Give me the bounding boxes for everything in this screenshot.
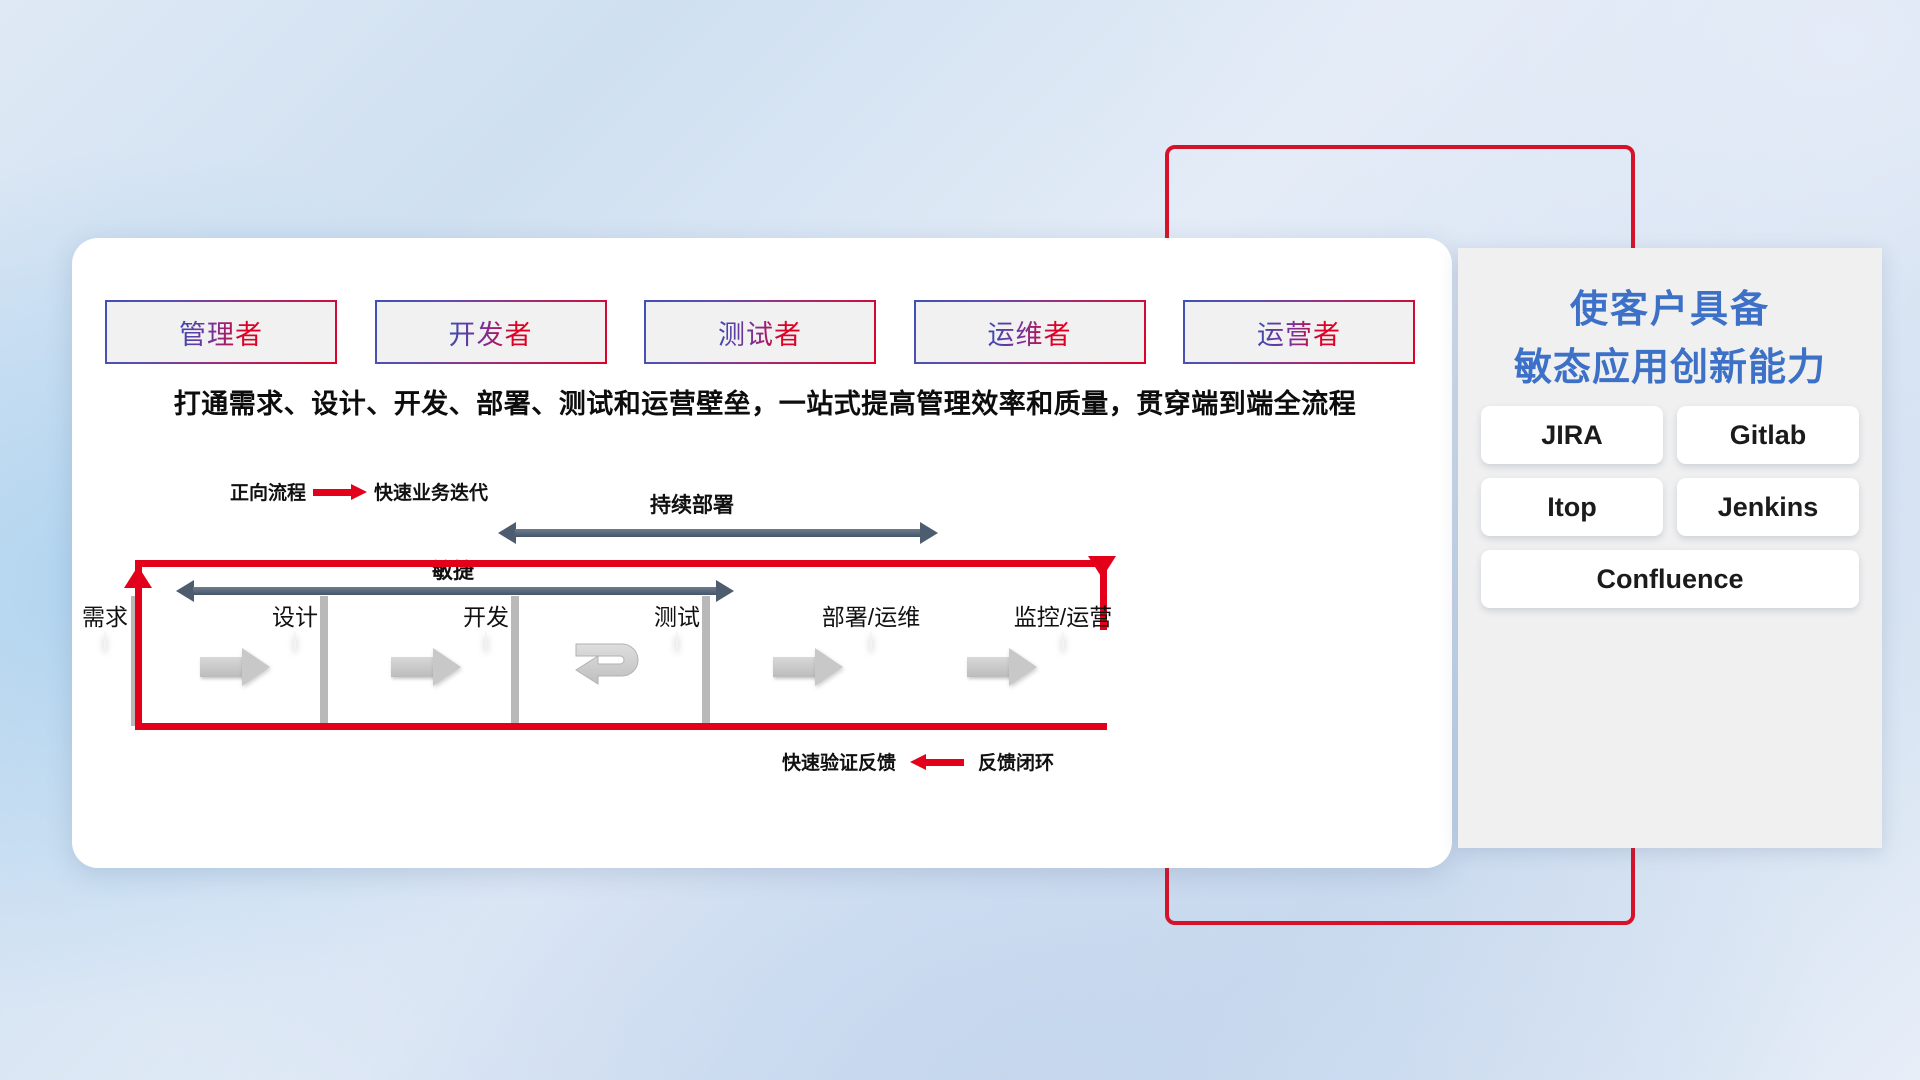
chevron-arrow-icon-2: [391, 648, 461, 686]
tool-chip-jira[interactable]: JIRA: [1481, 406, 1663, 464]
span-arrow-continuous-deploy: [498, 522, 938, 544]
node-circle-icon: [676, 631, 678, 650]
pipeline-node-row: 需求 设计 开发: [100, 596, 1160, 706]
pipeline-node-develop[interactable]: 开发: [485, 632, 487, 650]
arrow-left-red-icon: [910, 754, 964, 770]
role-box-manager[interactable]: 管理者: [105, 300, 337, 364]
value-proposition-panel: 使客户具备 敏态应用创新能力 JIRA Gitlab Itop Jenkins …: [1458, 248, 1882, 848]
role-box-tester[interactable]: 测试者: [644, 300, 876, 364]
tool-chip-confluence[interactable]: Confluence: [1481, 550, 1859, 608]
tool-chip-jenkins[interactable]: Jenkins: [1677, 478, 1859, 536]
slide-canvas: 管理者 开发者 测试者 运维者 运营者 打通需求、设计、开发、部署、测试和运营壁…: [0, 0, 1920, 1080]
role-box-row: 管理者 开发者 测试者 运维者 运营者: [105, 300, 1415, 364]
feedback-loop-top-line: [135, 560, 1107, 567]
pipeline-node-label: 测试: [654, 598, 700, 632]
uturn-loop-arrow-icon: [570, 634, 656, 692]
node-circle-icon: [104, 631, 106, 650]
feedback-loop-arrow-up-icon: [124, 566, 152, 588]
role-label: 开发者: [449, 313, 533, 352]
node-circle-icon: [1062, 631, 1064, 650]
feedback-loop-bottom-line: [135, 723, 1107, 730]
node-circle-icon: [485, 631, 487, 650]
pipeline-node-test[interactable]: 测试: [676, 632, 678, 650]
legend-feedback-right-label: 反馈闭环: [978, 748, 1054, 775]
node-circle-icon: [870, 631, 872, 650]
role-label: 测试者: [718, 313, 802, 352]
tool-chip-list: JIRA Gitlab Itop Jenkins Confluence: [1468, 406, 1872, 608]
pipeline-node-requirement[interactable]: 需求: [104, 632, 106, 650]
role-box-ops[interactable]: 运维者: [914, 300, 1146, 364]
pipeline-node-design[interactable]: 设计: [294, 632, 296, 650]
tool-chip-itop[interactable]: Itop: [1481, 478, 1663, 536]
node-circle-icon: [294, 631, 296, 650]
pipeline-node-label: 部署/运维: [822, 598, 920, 632]
span-label-continuous-deploy: 持续部署: [650, 489, 734, 519]
legend-feedback-left-label: 快速验证反馈: [782, 748, 896, 775]
role-label: 管理者: [179, 313, 263, 352]
pipeline-node-label: 设计: [272, 598, 318, 632]
panel-title: 使客户具备: [1458, 278, 1882, 333]
pipeline-node-deploy-ops[interactable]: 部署/运维: [870, 632, 872, 650]
headline-text: 打通需求、设计、开发、部署、测试和运营壁垒，一站式提高管理效率和质量，贯穿端到端…: [105, 382, 1425, 421]
chevron-arrow-icon-3: [773, 648, 843, 686]
tool-chip-gitlab[interactable]: Gitlab: [1677, 406, 1859, 464]
pipeline-node-label: 监控/运营: [1014, 598, 1112, 632]
role-label: 运营者: [1257, 313, 1341, 352]
pipeline-node-label: 开发: [463, 598, 509, 632]
role-label: 运维者: [988, 313, 1072, 352]
legend-forward-right-label: 快速业务迭代: [374, 478, 488, 505]
pipeline-node-monitor-operate[interactable]: 监控/运营: [1062, 632, 1064, 650]
chevron-arrow-icon-4: [967, 648, 1037, 686]
legend-forward-left-label: 正向流程: [230, 478, 306, 505]
pipeline-node-label: 需求: [82, 598, 128, 632]
legend-feedback-loop: 快速验证反馈 反馈闭环: [782, 748, 1054, 775]
chevron-arrow-icon-1: [200, 648, 270, 686]
legend-forward-flow: 正向流程 快速业务迭代: [230, 478, 488, 505]
feedback-loop-arrow-down-icon: [1088, 556, 1116, 578]
role-box-developer[interactable]: 开发者: [375, 300, 607, 364]
role-box-operator[interactable]: 运营者: [1183, 300, 1415, 364]
arrow-right-red-icon: [313, 484, 367, 500]
panel-subtitle: 敏态应用创新能力: [1458, 336, 1882, 391]
